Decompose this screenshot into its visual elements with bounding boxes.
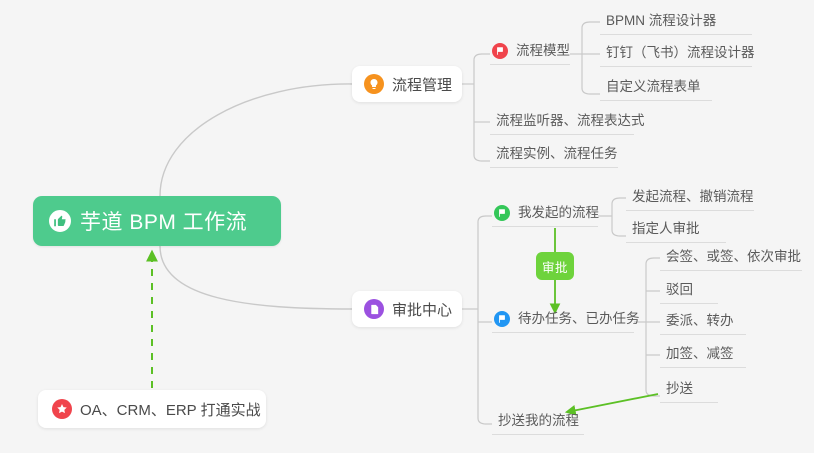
leaf-delegate-transfer[interactable]: 委派、转办 xyxy=(660,312,746,335)
edge-to-faqiliucheng xyxy=(612,198,626,204)
edge-to-bpmn xyxy=(582,22,600,28)
edge-root-to-shenpizhongxin xyxy=(160,246,352,309)
document-icon xyxy=(364,299,384,319)
branch-label: 审批中心 xyxy=(392,299,452,320)
approval-tag[interactable]: 审批 xyxy=(536,252,574,280)
leaf-reject[interactable]: 驳回 xyxy=(660,281,718,304)
leaf-add-remove-sign[interactable]: 加签、减签 xyxy=(660,345,746,368)
edge-to-shilirenwu xyxy=(474,155,490,161)
leaf-assignee-approval[interactable]: 指定人审批 xyxy=(626,220,726,243)
node-my-initiated-processes[interactable]: 我发起的流程 xyxy=(492,204,598,227)
edge-to-liuchengmoxing xyxy=(474,54,490,60)
leaf-process-instance-task[interactable]: 流程实例、流程任务 xyxy=(490,145,618,168)
edge-root-to-liuchengguanli xyxy=(160,84,352,196)
node-todo-done-tasks[interactable]: 待办任务、已办任务 xyxy=(492,310,634,333)
star-icon xyxy=(52,399,72,419)
mindmap-canvas: 芋道 BPM 工作流 流程管理 流程模型 BPMN 流程设计器 钉钉（飞书）流程… xyxy=(0,0,814,453)
leaf-cc-to-me-processes[interactable]: 抄送我的流程 xyxy=(492,412,584,435)
branch-node-process-management[interactable]: 流程管理 xyxy=(352,66,462,102)
callout-label: OA、CRM、ERP 打通实战 xyxy=(80,399,261,420)
leaf-dingtalk-feishu-designer[interactable]: 钉钉（飞书）流程设计器 xyxy=(600,44,752,67)
leaf-bpmn-designer[interactable]: BPMN 流程设计器 xyxy=(600,12,752,35)
leaf-countersign-orsign-sequential[interactable]: 会签、或签、依次审批 xyxy=(660,248,802,271)
leaf-custom-process-form[interactable]: 自定义流程表单 xyxy=(600,78,712,101)
node-label: 待办任务、已办任务 xyxy=(518,310,640,327)
edge-to-chaosong xyxy=(646,390,660,396)
node-label: 我发起的流程 xyxy=(518,204,599,221)
edge-to-wofaqi xyxy=(478,216,492,222)
flag-icon xyxy=(492,43,508,59)
node-process-model[interactable]: 流程模型 xyxy=(490,42,570,65)
root-label: 芋道 BPM 工作流 xyxy=(80,206,247,236)
flag-icon xyxy=(494,205,510,221)
node-label: 流程模型 xyxy=(516,42,570,59)
leaf-initiate-cancel-process[interactable]: 发起流程、撤销流程 xyxy=(626,188,754,211)
edge-to-huiqian xyxy=(646,258,660,264)
edge-to-zhidingren xyxy=(612,230,626,236)
leaf-process-listener-expression[interactable]: 流程监听器、流程表达式 xyxy=(490,112,634,135)
annotation-arrow-chaosong-to-chaosongwode xyxy=(567,394,658,412)
callout-node-integration[interactable]: OA、CRM、ERP 打通实战 xyxy=(38,390,266,428)
leaf-carbon-copy[interactable]: 抄送 xyxy=(660,380,718,403)
thumbs-up-icon xyxy=(49,210,71,232)
approval-tag-label: 审批 xyxy=(542,257,568,276)
flag-icon xyxy=(494,311,510,327)
branch-node-approval-center[interactable]: 审批中心 xyxy=(352,291,462,327)
branch-label: 流程管理 xyxy=(392,74,452,95)
edge-to-zidingyi xyxy=(582,88,600,94)
root-node[interactable]: 芋道 BPM 工作流 xyxy=(33,196,281,246)
lightbulb-icon xyxy=(364,74,384,94)
edge-to-chaosongwode xyxy=(478,418,492,424)
